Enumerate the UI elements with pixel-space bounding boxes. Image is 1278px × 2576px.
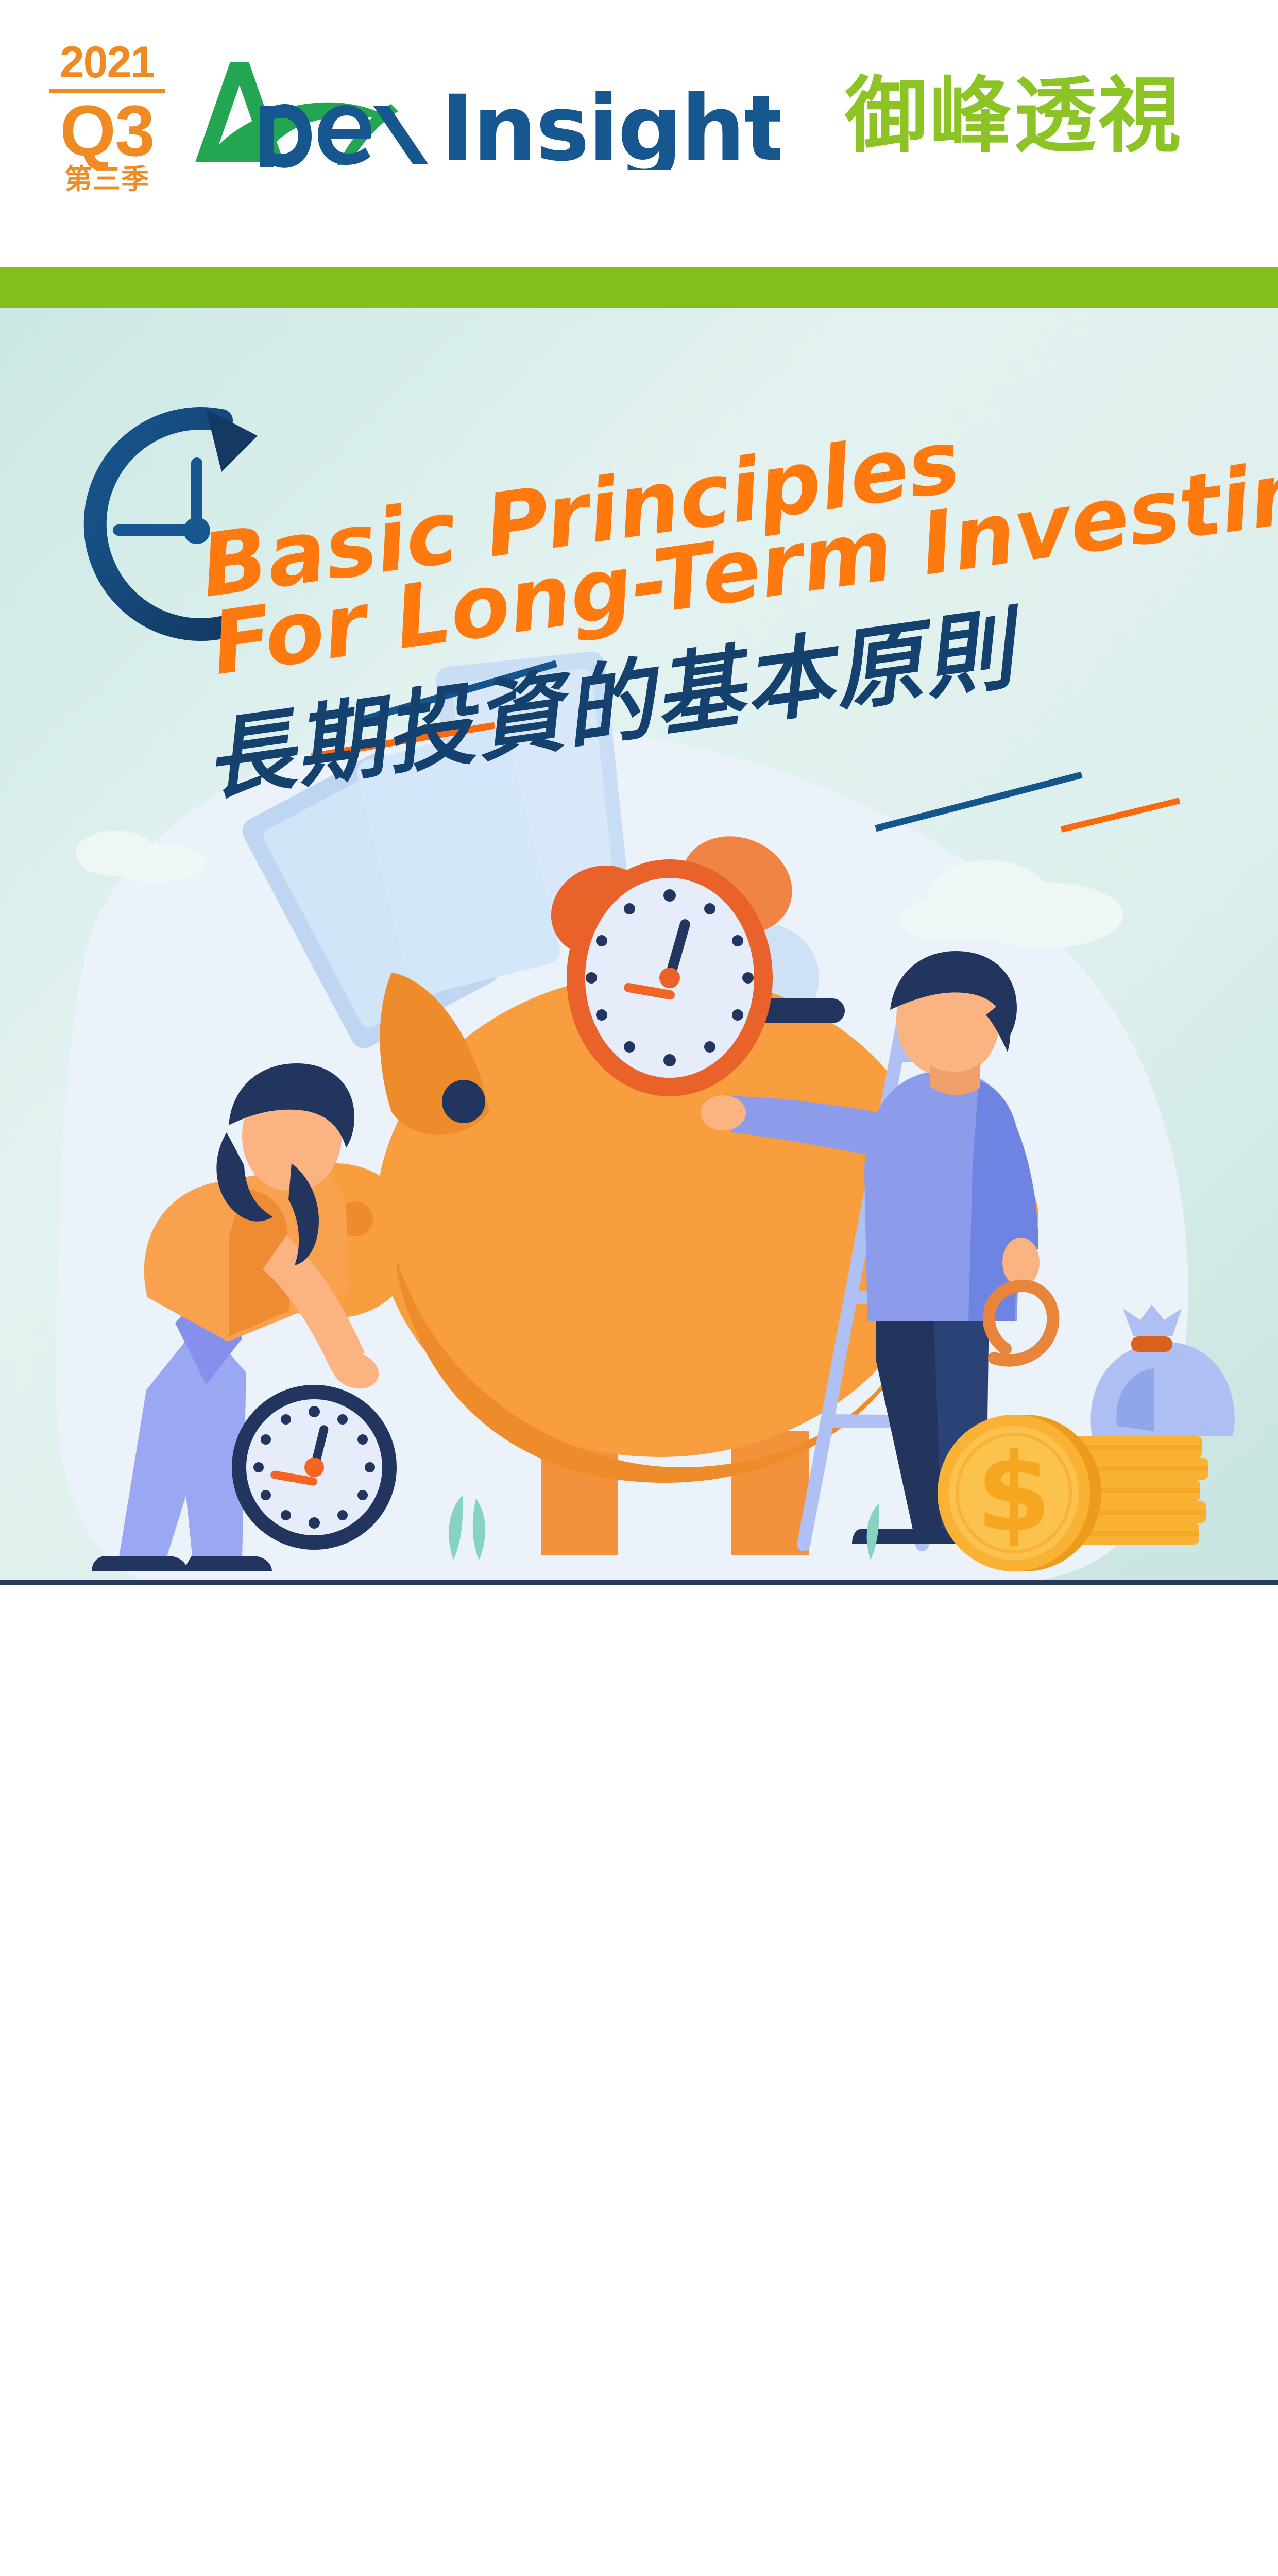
masthead: 2021 Q3 第三季 bbox=[0, 0, 1278, 267]
svg-text:$: $ bbox=[976, 1430, 1051, 1556]
wall-clock bbox=[232, 1385, 397, 1550]
footer: Associate Firm Personal Finance Society … bbox=[0, 1585, 1278, 1777]
issue-quarter: Q3 bbox=[49, 94, 165, 168]
issue-year: 2021 bbox=[49, 40, 165, 84]
svg-text:Insights: Insights bbox=[440, 76, 780, 170]
issue-quarter-block: 2021 Q3 第三季 bbox=[49, 40, 165, 194]
illustration-svg: $ bbox=[0, 308, 1278, 1585]
accent-band bbox=[0, 267, 1278, 308]
brand-chinese-title: 御峰透視 bbox=[845, 75, 1183, 157]
apex-insights-logo: Insights bbox=[183, 57, 780, 170]
issue-quarter-chinese: 第三季 bbox=[49, 165, 165, 194]
piggy-eye bbox=[442, 1080, 485, 1123]
cover-artwork: $ bbox=[0, 308, 1278, 1585]
gold-coin: $ bbox=[938, 1415, 1101, 1571]
